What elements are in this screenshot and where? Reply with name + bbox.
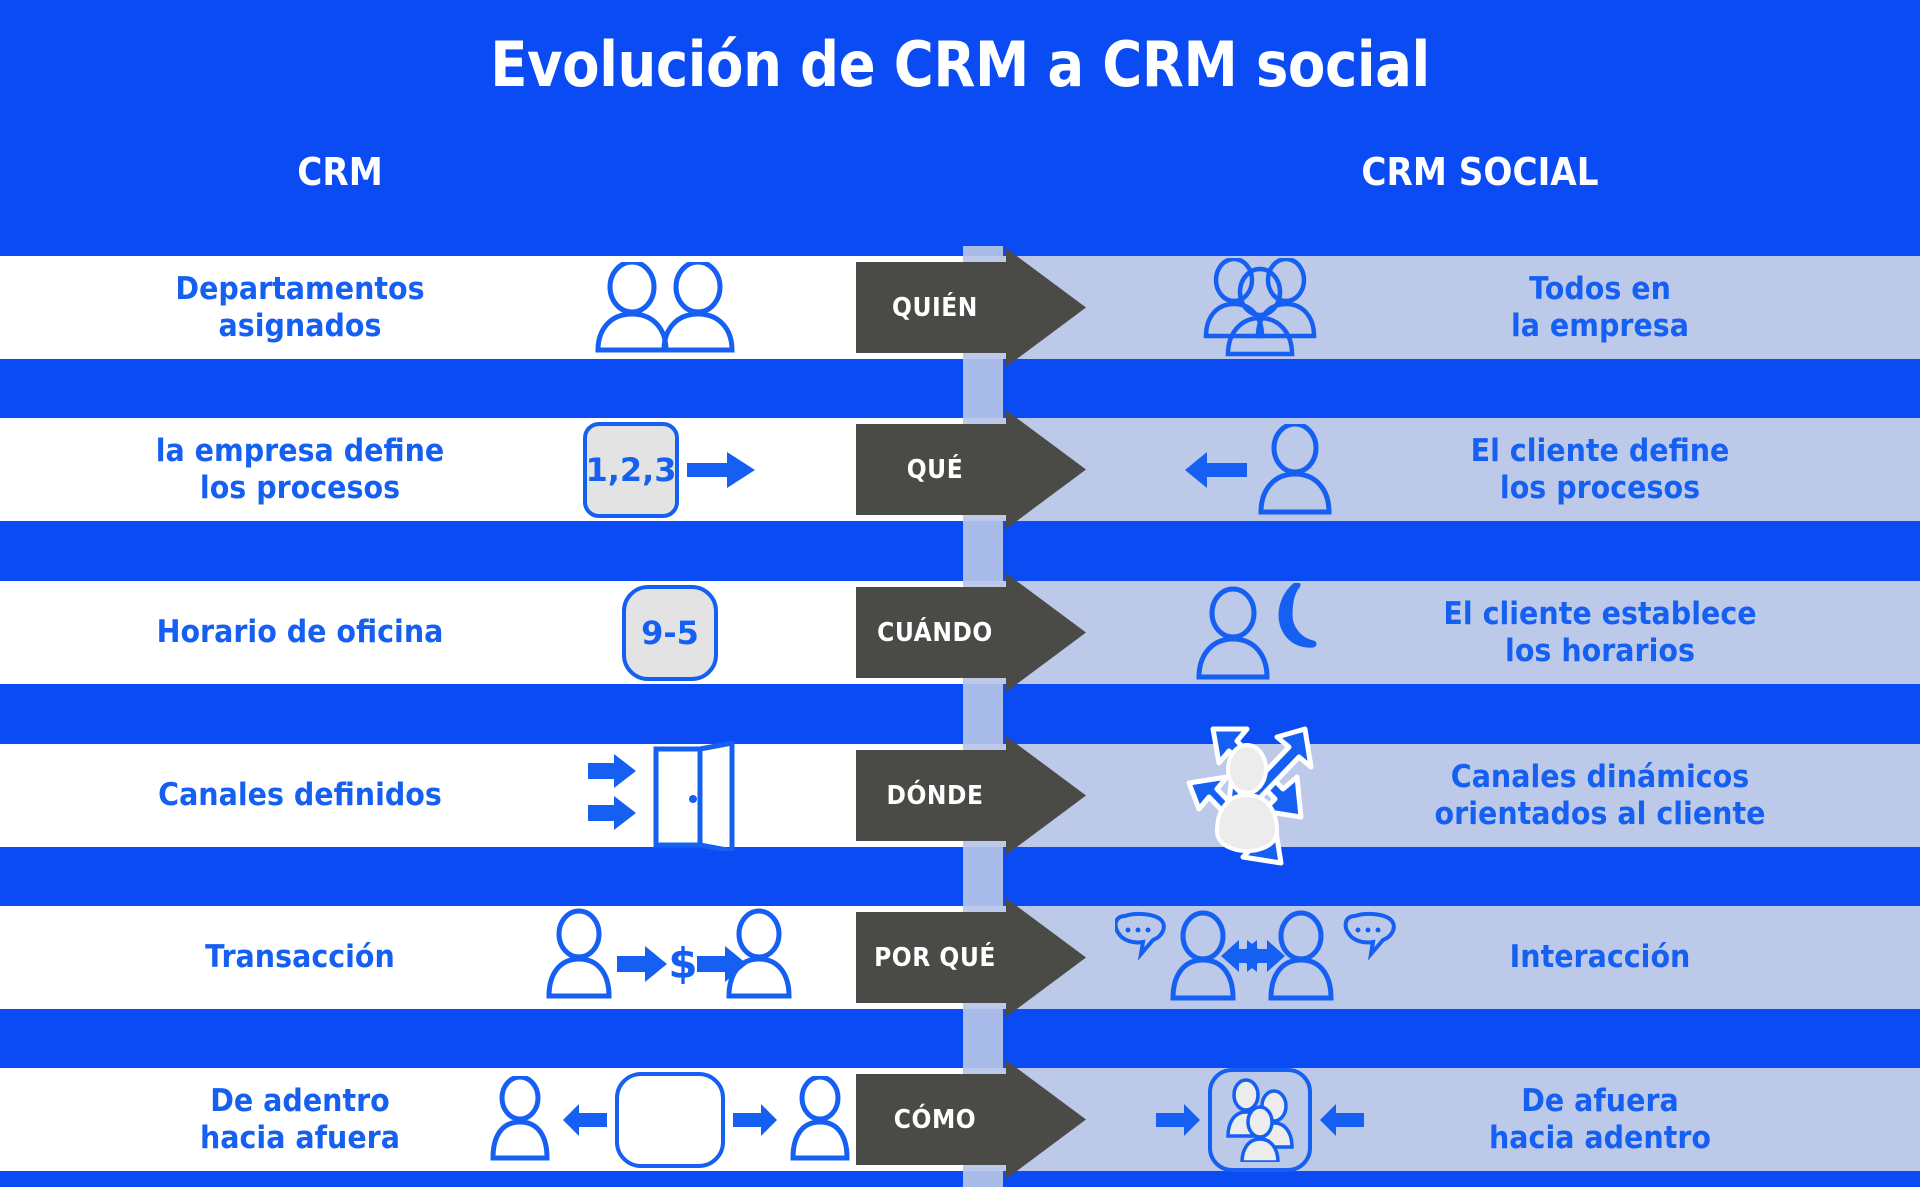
crm-social-label-line2: los horarios xyxy=(1505,633,1695,670)
arrow-que[interactable]: QUÉ xyxy=(856,410,1086,529)
door-with-arrows-icon xyxy=(520,744,820,847)
arrow-porque[interactable]: POR QUÉ xyxy=(856,898,1086,1017)
person-icon xyxy=(785,1076,855,1164)
infographic-canvas: Evolución de CRM a CRM social CRM CRM SO… xyxy=(0,0,1920,1187)
person-icon xyxy=(1255,424,1335,516)
crm-label: Horario de oficina xyxy=(98,581,503,684)
crm-social-label: El cliente define los procesos xyxy=(1407,418,1793,521)
process-steps-chip: 1,2,3 xyxy=(583,422,679,518)
crm-social-label-line1: El cliente define xyxy=(1471,433,1730,470)
arrow-left-icon xyxy=(1320,1103,1364,1137)
crm-label-line1: Horario de oficina xyxy=(157,614,444,651)
arrow-cuando[interactable]: CUÁNDO xyxy=(856,573,1086,692)
person-icon xyxy=(485,1076,555,1164)
crm-social-label-line1: De afuera xyxy=(1521,1083,1679,1120)
crm-label-line1: De adentro xyxy=(210,1083,390,1120)
two-persons-chat-bubbles-icon xyxy=(1110,906,1410,1009)
person-outward-box-person-icon xyxy=(520,1068,820,1171)
steps-box-arrow-right-icon: 1,2,3 xyxy=(520,418,820,521)
crm-label-line1: la empresa define xyxy=(156,433,445,470)
person-moon-icon xyxy=(1110,581,1410,684)
crm-social-label-line2: orientados al cliente xyxy=(1435,796,1766,833)
person-multi-arrows-icon xyxy=(1110,744,1410,847)
arrow-left-icon xyxy=(563,1103,607,1137)
crm-social-label: De afuera hacia adentro xyxy=(1407,1068,1793,1171)
arrow-right-icon xyxy=(687,450,757,490)
crm-social-label: Canales dinámicos orientados al cliente xyxy=(1407,744,1793,847)
arrow-left-icon xyxy=(1185,450,1247,490)
crm-social-label: Todos en la empresa xyxy=(1407,256,1793,359)
crm-social-label-line2: los procesos xyxy=(1500,470,1700,507)
crm-social-label-line1: Interacción xyxy=(1510,939,1691,976)
crm-social-label: Interacción xyxy=(1407,906,1793,1009)
group-of-people-icon xyxy=(1220,1078,1300,1162)
crm-social-label-line1: El cliente establece xyxy=(1443,596,1756,633)
group-of-people-icon xyxy=(1110,256,1410,359)
crm-label: la empresa define los procesos xyxy=(98,418,503,521)
arrow-quien[interactable]: QUIÉN xyxy=(856,248,1086,367)
arrow-donde[interactable]: DÓNDE xyxy=(856,736,1086,855)
arrows-inward-group-box-icon xyxy=(1110,1068,1410,1171)
svg-text:$: $ xyxy=(668,939,697,988)
crm-label-line2: los procesos xyxy=(200,470,400,507)
comparison-row-cuando: Horario de oficina 9-5 CUÁNDO El cliente… xyxy=(0,581,1920,684)
person-dollar-person-icon: $ xyxy=(520,906,820,1009)
crm-label-line1: Departamentos xyxy=(175,271,424,308)
arrow-right-icon xyxy=(733,1103,777,1137)
crm-label: De adentro hacia afuera xyxy=(98,1068,503,1171)
crm-social-label: El cliente establece los horarios xyxy=(1407,581,1793,684)
arrow-left-person-icon xyxy=(1110,418,1410,521)
arrow-como[interactable]: CÓMO xyxy=(856,1060,1086,1179)
crm-label-line1: Canales definidos xyxy=(158,777,442,814)
company-box xyxy=(1208,1068,1312,1172)
column-header-crm: CRM xyxy=(160,150,520,194)
crm-label: Departamentos asignados xyxy=(98,256,503,359)
comparison-row-que: la empresa define los procesos 1,2,3 QUÉ xyxy=(0,418,1920,521)
organization-box xyxy=(615,1072,725,1168)
column-header-crm-social: CRM SOCIAL xyxy=(1300,150,1660,194)
crm-social-label-line2: hacia adentro xyxy=(1489,1120,1711,1157)
comparison-row-como: De adentro hacia afuera xyxy=(0,1068,1920,1171)
crm-label-line2: asignados xyxy=(219,308,382,345)
crm-social-label-line1: Todos en xyxy=(1529,271,1671,308)
comparison-row-donde: Canales definidos DÓNDE xyxy=(0,744,1920,847)
crm-label: Canales definidos xyxy=(98,744,503,847)
office-hours-chip: 9-5 xyxy=(622,585,718,681)
comparison-row-quien: Departamentos asignados QUIÉN xyxy=(0,256,1920,359)
crm-label: Transacción xyxy=(98,906,503,1009)
crm-label-line1: Transacción xyxy=(205,939,395,976)
comparison-row-porque: Transacción $ POR QUÉ xyxy=(0,906,1920,1009)
two-persons-icon xyxy=(520,256,820,359)
arrow-right-icon xyxy=(1156,1103,1200,1137)
crm-label-line2: hacia afuera xyxy=(200,1120,400,1157)
page-title: Evolución de CRM a CRM social xyxy=(115,28,1805,101)
center-divider-strip xyxy=(963,246,1003,1187)
office-hours-box-icon: 9-5 xyxy=(520,581,820,684)
crm-social-label-line2: la empresa xyxy=(1511,308,1689,345)
crm-social-label-line1: Canales dinámicos xyxy=(1451,759,1749,796)
